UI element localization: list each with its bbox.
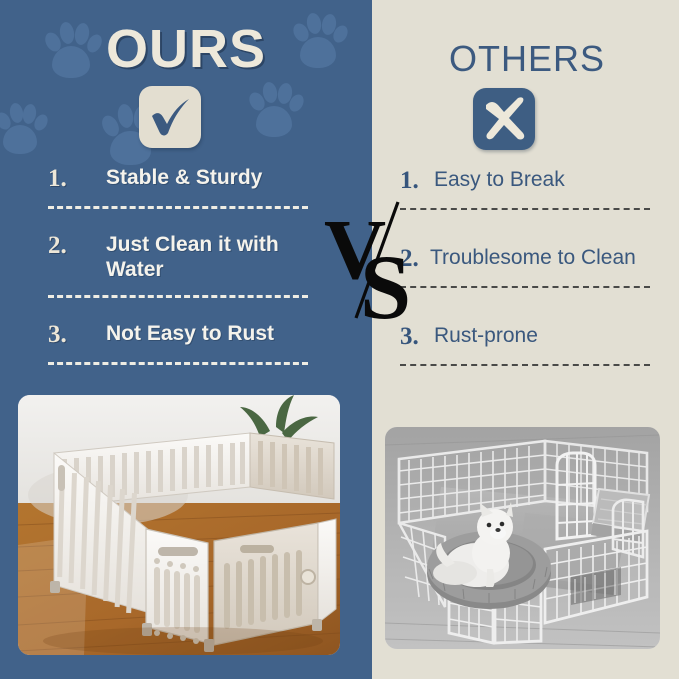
- list-item-number: 2.: [400, 246, 430, 271]
- x-badge: [473, 88, 535, 150]
- list-item-label: Easy to Break: [434, 168, 565, 193]
- list-item: 2. Troublesome to Clean: [400, 246, 662, 288]
- others-product-photo: [385, 427, 660, 649]
- list-item-number: 2.: [48, 233, 106, 258]
- list-item-number: 1.: [48, 166, 106, 191]
- list-item-number: 1.: [400, 168, 434, 193]
- gate-handle: [158, 547, 198, 556]
- ours-playpen-illustration: [18, 395, 340, 655]
- list-item-label: Rust-prone: [434, 324, 538, 349]
- comparison-infographic: OURS OTHERS 1. Stable & Sturdy 2. Just C…: [0, 0, 679, 679]
- list-item-number: 3.: [400, 324, 434, 349]
- list-item-label: Troublesome to Clean: [430, 246, 636, 271]
- list-divider: [48, 362, 308, 365]
- x-icon: [473, 88, 535, 150]
- playpen-right-side: [318, 519, 336, 623]
- paw-print-icon: [0, 96, 46, 156]
- ours-title: OURS: [0, 18, 372, 80]
- latch-knob: [301, 570, 315, 584]
- list-divider: [48, 295, 308, 298]
- panel-divider: [372, 0, 375, 679]
- list-item: 3. Rust-prone: [400, 324, 662, 366]
- list-item-number: 3.: [48, 322, 106, 347]
- others-list: 1. Easy to Break 2. Troublesome to Clean…: [400, 168, 662, 366]
- playpen-front-right: [214, 523, 318, 645]
- list-divider: [400, 364, 650, 366]
- ours-list: 1. Stable & Sturdy 2. Just Clean it with…: [48, 166, 308, 365]
- others-title: OTHERS: [375, 38, 679, 80]
- playpen-front-gate: [146, 529, 208, 644]
- check-badge: [139, 86, 201, 148]
- list-divider: [48, 206, 308, 209]
- list-item-label: Stable & Sturdy: [106, 166, 262, 191]
- list-divider: [400, 208, 650, 210]
- list-item-label: Not Easy to Rust: [106, 322, 274, 347]
- list-item: 3. Not Easy to Rust: [48, 322, 308, 365]
- list-item: 2. Just Clean it with Water: [48, 233, 308, 298]
- ours-product-photo: [18, 395, 340, 655]
- paw-print-icon: [244, 75, 302, 139]
- list-item: 1. Stable & Sturdy: [48, 166, 308, 209]
- list-divider: [400, 286, 650, 288]
- others-wire-cage-illustration: [385, 427, 660, 649]
- list-item-label: Just Clean it with Water: [106, 233, 306, 283]
- check-icon: [139, 86, 201, 148]
- list-item: 1. Easy to Break: [400, 168, 662, 210]
